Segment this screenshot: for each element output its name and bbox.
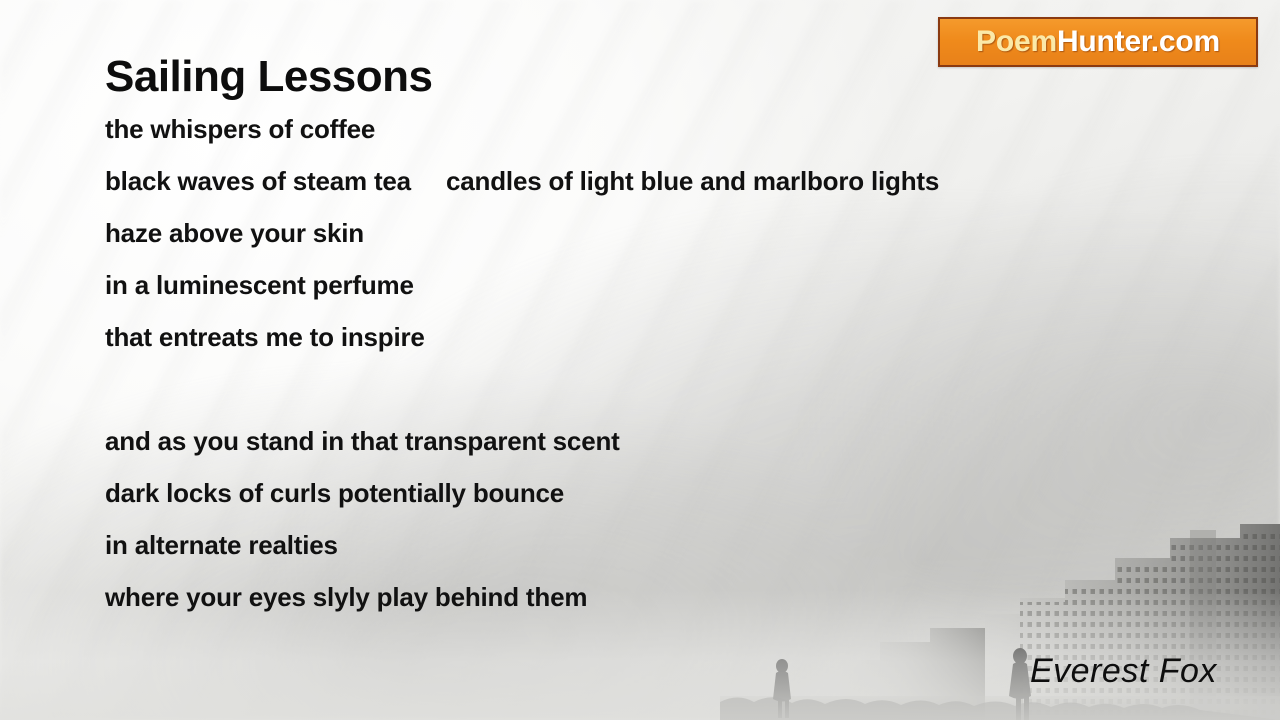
logo-word-poem: Poem bbox=[976, 25, 1057, 58]
poem-line: in alternate realties bbox=[105, 528, 1225, 580]
poem-line: haze above your skin bbox=[105, 216, 1225, 268]
poem-line: where your eyes slyly play behind them bbox=[105, 580, 1225, 632]
logo-word-hunter: Hunter.com bbox=[1057, 25, 1220, 58]
poem-line: that entreats me to inspire bbox=[105, 320, 1225, 372]
poem-line: and as you stand in that transparent sce… bbox=[105, 424, 1225, 476]
poem-author: Everest Fox bbox=[1030, 652, 1217, 691]
poem-body: the whispers of coffee black waves of st… bbox=[105, 112, 1225, 632]
poem-line: dark locks of curls potentially bounce bbox=[105, 476, 1225, 528]
poem-line-blank bbox=[105, 372, 1225, 424]
poemhunter-logo-text: PoemHunter.com bbox=[976, 27, 1220, 57]
poem-title: Sailing Lessons bbox=[105, 55, 432, 99]
poemhunter-logo[interactable]: PoemHunter.com bbox=[938, 17, 1258, 67]
poem-line: the whispers of coffee bbox=[105, 112, 1225, 164]
poem-page: PoemHunter.com Sailing Lessons the whisp… bbox=[0, 0, 1280, 720]
poem-line: in a luminescent perfume bbox=[105, 268, 1225, 320]
poem-line: black waves of steam tea candles of ligh… bbox=[105, 164, 1225, 216]
